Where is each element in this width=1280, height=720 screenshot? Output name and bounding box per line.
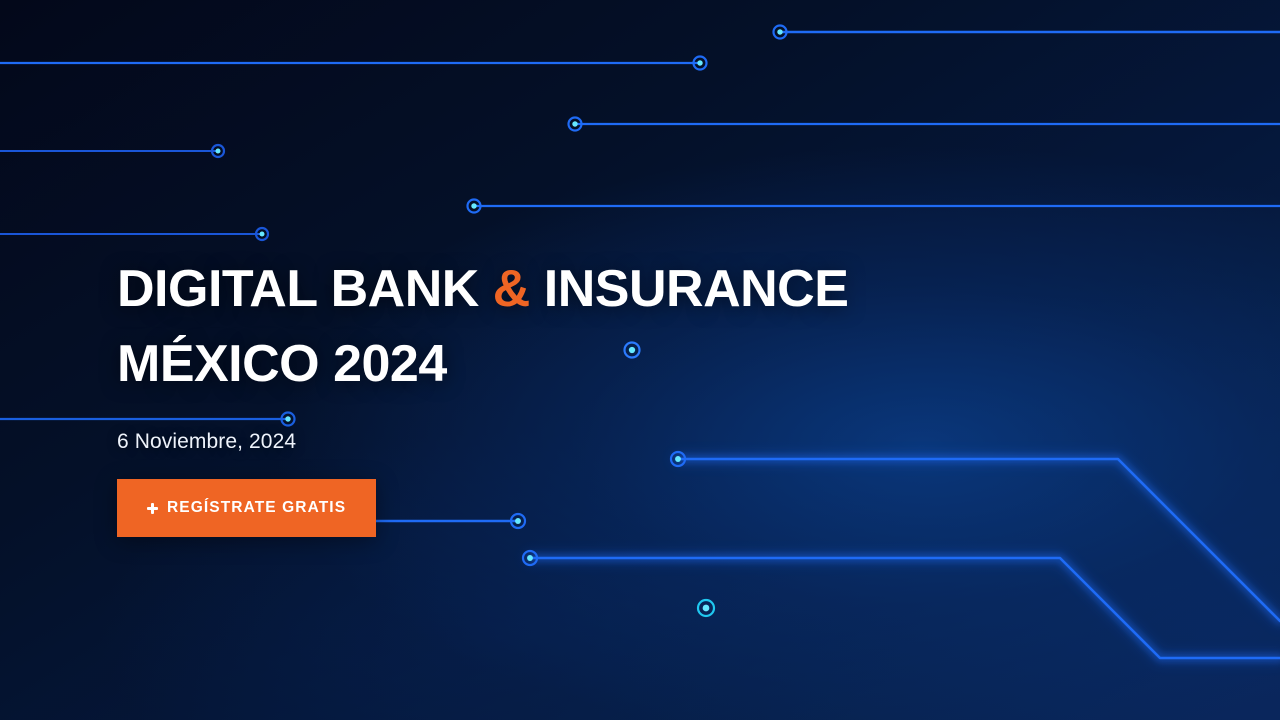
node-core-t11 xyxy=(527,555,533,561)
headline-line-2: MÉXICO 2024 xyxy=(117,323,848,406)
node-core-t12 xyxy=(703,605,710,612)
trace-glow-t12 xyxy=(12,608,706,720)
plus-icon xyxy=(147,503,158,514)
node-core-t4 xyxy=(215,148,220,153)
node-core-t5 xyxy=(471,203,476,208)
headline-part-2: INSURANCE xyxy=(530,260,849,318)
register-free-button[interactable]: REGÍSTRATE GRATIS xyxy=(117,479,376,537)
page-title: DIGITAL BANK & INSURANCE MÉXICO 2024 xyxy=(117,248,848,406)
event-date: 6 Noviembre, 2024 xyxy=(117,430,848,454)
hero-banner: DIGITAL BANK & INSURANCE MÉXICO 2024 6 N… xyxy=(0,0,1280,720)
hero-content: DIGITAL BANK & INSURANCE MÉXICO 2024 6 N… xyxy=(117,248,848,537)
node-core-t3 xyxy=(572,121,577,126)
headline-ampersand: & xyxy=(493,260,530,318)
node-core-t2 xyxy=(697,60,702,65)
register-free-button-label: REGÍSTRATE GRATIS xyxy=(167,499,346,517)
headline-part-1: DIGITAL BANK xyxy=(117,260,493,318)
node-core-t1 xyxy=(777,29,782,34)
node-core-t6 xyxy=(259,231,264,236)
